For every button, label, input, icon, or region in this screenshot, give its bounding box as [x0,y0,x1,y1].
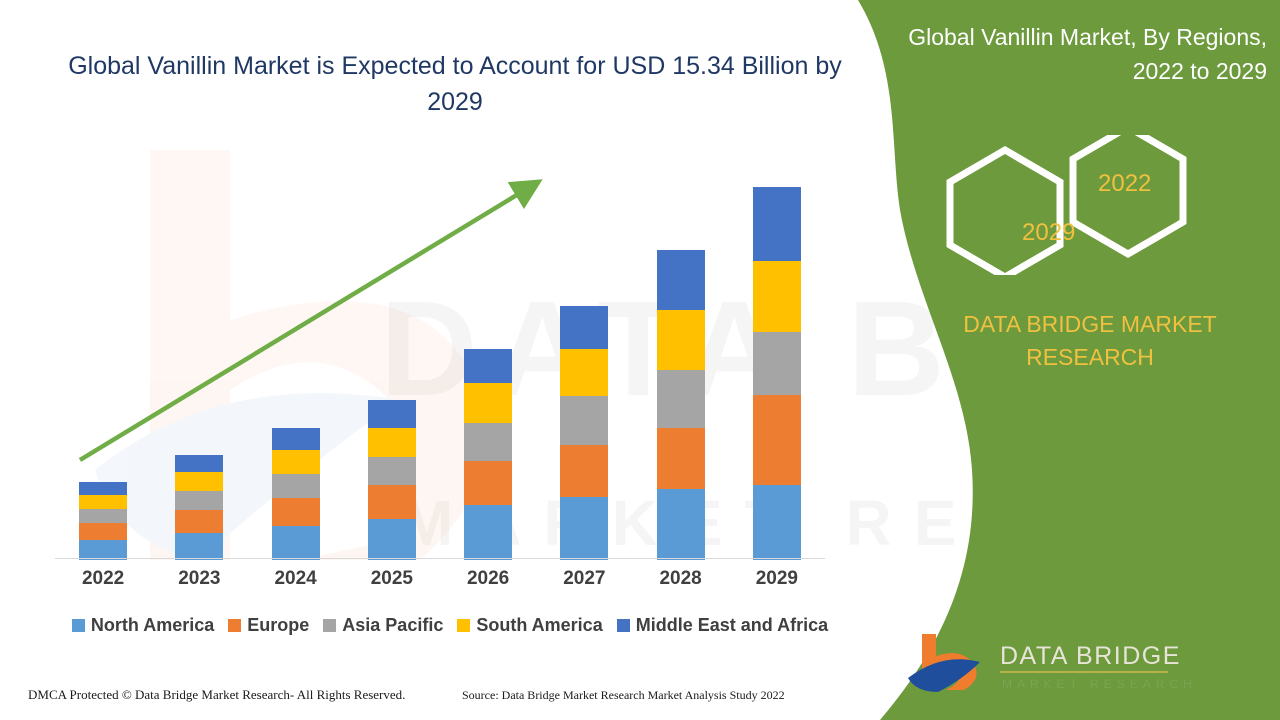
source-note: Source: Data Bridge Market Research Mark… [462,688,785,703]
footer: DMCA Protected © Data Bridge Market Rese… [0,680,880,720]
logo-secondary-text: MARKET RESEARCH [1002,677,1197,691]
x-axis-label-2028: 2028 [633,568,729,590]
dmca-notice: DMCA Protected © Data Bridge Market Rese… [28,687,405,703]
legend-swatch-icon [617,619,630,632]
logo-primary-text: DATA BRIDGE [1000,642,1181,670]
hex-badges [880,135,1280,275]
legend-swatch-icon [228,619,241,632]
legend-item-europe[interactable]: Europe [228,615,309,636]
x-axis-label-2026: 2026 [440,568,536,590]
right-panel-content: Global Vanillin Market, By Regions, 2022… [880,0,1280,720]
x-axis-label-2023: 2023 [151,568,247,590]
x-axis: 20222023202420252026202720282029 [55,568,825,598]
x-axis-label-2022: 2022 [55,568,151,590]
legend-swatch-icon [457,619,470,632]
x-axis-label-2025: 2025 [344,568,440,590]
chart-panel: Global Vanillin Market is Expected to Ac… [0,0,880,720]
x-axis-label-2024: 2024 [248,568,344,590]
legend-item-north-america[interactable]: North America [72,615,214,636]
legend-swatch-icon [72,619,85,632]
legend-item-south-america[interactable]: South America [457,615,602,636]
chart-legend: North AmericaEuropeAsia PacificSouth Ame… [55,615,845,636]
legend-item-asia-pacific[interactable]: Asia Pacific [323,615,443,636]
growth-arrow [55,150,825,560]
legend-label: Asia Pacific [342,615,443,636]
hex-badge-2029-shape [950,150,1060,275]
data-bridge-logo: DATA BRIDGE MARKET RESEARCH [900,628,1260,698]
legend-label: South America [476,615,602,636]
legend-label: Europe [247,615,309,636]
hex-badge-2029-label: 2029 [1022,219,1075,247]
logo-mark [908,634,980,692]
legend-label: Middle East and Africa [636,615,828,636]
x-axis-label-2027: 2027 [536,568,632,590]
legend-item-middle-east-and-africa[interactable]: Middle East and Africa [617,615,828,636]
panel-title: Global Vanillin Market, By Regions, 2022… [885,20,1275,88]
hex-badge-2022-label: 2022 [1098,170,1151,198]
x-axis-label-2029: 2029 [729,568,825,590]
page-title: Global Vanillin Market is Expected to Ac… [60,48,850,120]
legend-swatch-icon [323,619,336,632]
legend-label: North America [91,615,214,636]
brand-name: DATA BRIDGE MARKET RESEARCH [910,308,1270,374]
